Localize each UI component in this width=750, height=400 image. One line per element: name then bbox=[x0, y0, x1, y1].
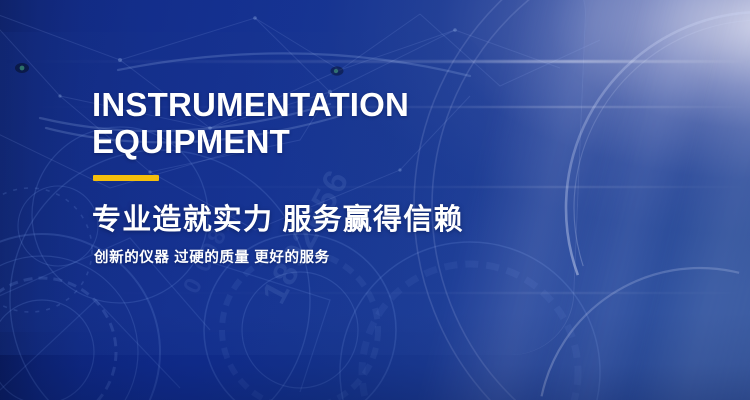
subtitle: 创新的仪器 过硬的质量 更好的服务 bbox=[94, 248, 330, 268]
tagline: 专业造就实力 服务赢得信赖 bbox=[92, 203, 464, 237]
instrumentation-banner: 1892656 0 008.4 INSTRUMENTATION EQUIPMEN… bbox=[0, 0, 750, 400]
accent-bar bbox=[93, 175, 159, 181]
banner-text-block: INSTRUMENTATION EQUIPMENT 专业造就实力 服务赢得信赖 … bbox=[92, 0, 652, 400]
page-title: INSTRUMENTATION EQUIPMENT bbox=[92, 86, 409, 160]
